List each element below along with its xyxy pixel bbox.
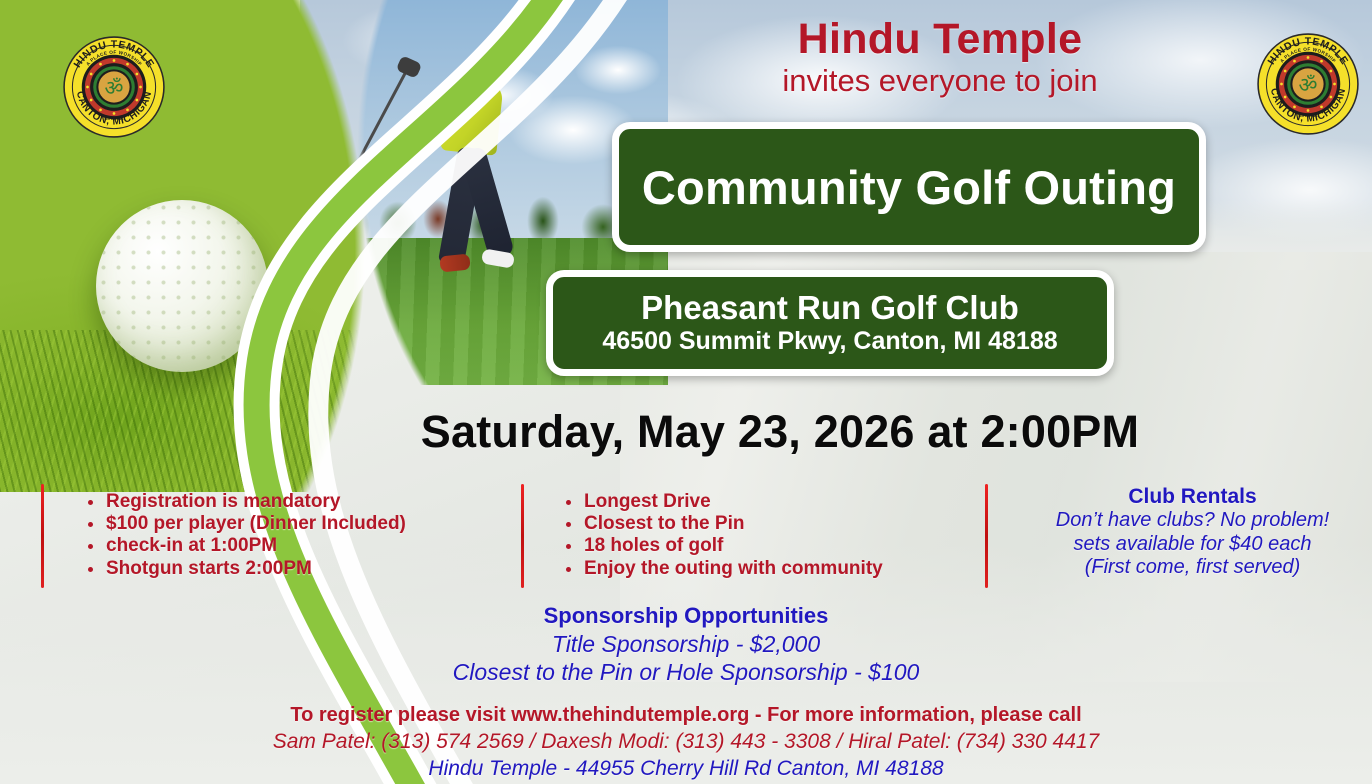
organization-name: Hindu Temple [620,16,1260,62]
registration-website-line[interactable]: To register please visit www.thehindutem… [86,702,1286,728]
sponsorship-line: Title Sponsorship - $2,000 [286,630,1086,659]
list-item: $100 per player (Dinner Included) [80,513,510,535]
hindu-temple-logo-icon-right: HINDU TEMPLE A PLACE OF WORSHIP CANTON, … [1256,32,1360,136]
logo-established-text: EST. 1981 [104,116,124,121]
event-title: Community Golf Outing [642,164,1176,211]
list-item: Registration is mandatory [80,491,510,513]
column-divider-left [41,484,44,588]
list-item: 18 holes of golf [558,535,978,557]
list-item: Closest to the Pin [558,513,978,535]
golf-ball-icon [96,200,268,372]
column-divider-right [985,484,988,588]
om-symbol-icon-right: ॐ [1299,73,1318,97]
club-rentals-block: Club Rentals Don’t have clubs? No proble… [1005,484,1372,580]
activities-list: Longest Drive Closest to the Pin 18 hole… [558,491,978,580]
golfer-figure-icon [414,55,544,305]
list-item: Enjoy the outing with community [558,558,978,580]
club-rentals-line: Don’t have clubs? No problem! [1005,509,1372,533]
flyer-footer: To register please visit www.thehindutem… [86,702,1286,783]
svg-text:EST. 1981: EST. 1981 [1298,113,1318,118]
golf-outing-flyer: HINDU TEMPLE A PLACE OF WORSHIP CANTON, … [0,0,1372,784]
list-item: Longest Drive [558,491,978,513]
venue-sign: Pheasant Run Golf Club 46500 Summit Pkwy… [546,270,1114,376]
contact-phone-line: Sam Patel: (313) 574 2569 / Daxesh Modi:… [86,728,1286,755]
info-columns: Registration is mandatory $100 per playe… [30,484,1350,592]
sponsorship-block: Sponsorship Opportunities Title Sponsors… [286,602,1086,687]
venue-name: Pheasant Run Golf Club [641,290,1019,326]
temple-address-line: Hindu Temple - 44955 Cherry Hill Rd Cant… [86,755,1286,782]
sponsorship-line: Closest to the Pin or Hole Sponsorship -… [286,658,1086,687]
flyer-header: Hindu Temple invites everyone to join [620,16,1260,101]
club-rentals-line: sets available for $40 each [1005,533,1372,557]
om-symbol-icon: ॐ [105,76,124,100]
list-item: check-in at 1:00PM [80,535,510,557]
hindu-temple-logo-icon: HINDU TEMPLE A PLACE OF WORSHIP CANTON, … [62,35,166,139]
sponsorship-title: Sponsorship Opportunities [286,602,1086,630]
event-title-sign: Community Golf Outing [612,122,1206,252]
club-rentals-line: (First come, first served) [1005,556,1372,580]
invitation-line: invites everyone to join [620,62,1260,101]
club-rentals-title: Club Rentals [1005,484,1372,509]
registration-list: Registration is mandatory $100 per playe… [80,491,510,580]
list-item: Shotgun starts 2:00PM [80,558,510,580]
event-datetime: Saturday, May 23, 2026 at 2:00PM [330,406,1230,458]
column-divider-middle [521,484,524,588]
venue-address: 46500 Summit Pkwy, Canton, MI 48188 [602,328,1057,356]
